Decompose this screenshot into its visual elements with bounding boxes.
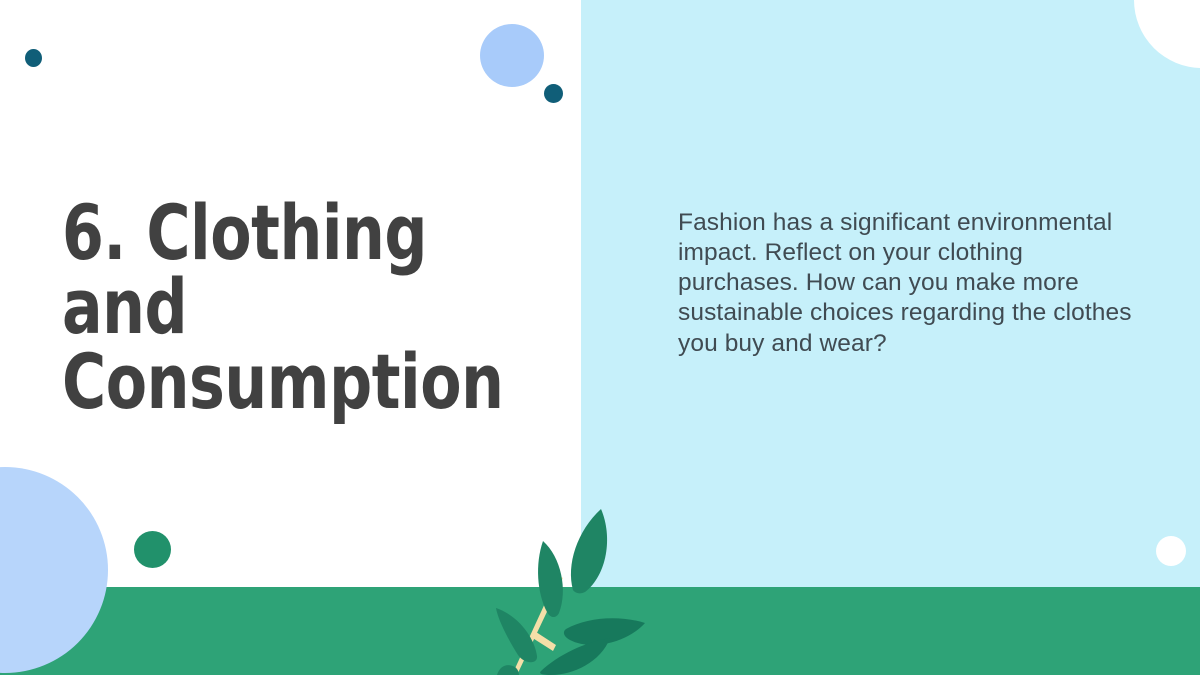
slide-canvas: 6. Clothing and Consumption Fashion has … bbox=[0, 0, 1200, 675]
slide-title: 6. Clothing and Consumption bbox=[62, 196, 502, 419]
teal-dot-decor-top-center bbox=[544, 84, 563, 103]
slide-body-text: Fashion has a significant environmental … bbox=[678, 208, 1148, 359]
white-circle-decor-bottom-right bbox=[1156, 536, 1186, 566]
body-block: Fashion has a significant environmental … bbox=[678, 208, 1148, 359]
title-block: 6. Clothing and Consumption bbox=[62, 196, 562, 419]
blue-circle-decor-top bbox=[480, 24, 544, 87]
green-dot-decor bbox=[134, 531, 171, 568]
teal-dot-decor-top-left bbox=[25, 49, 42, 67]
leaf-branch-icon bbox=[455, 495, 695, 675]
